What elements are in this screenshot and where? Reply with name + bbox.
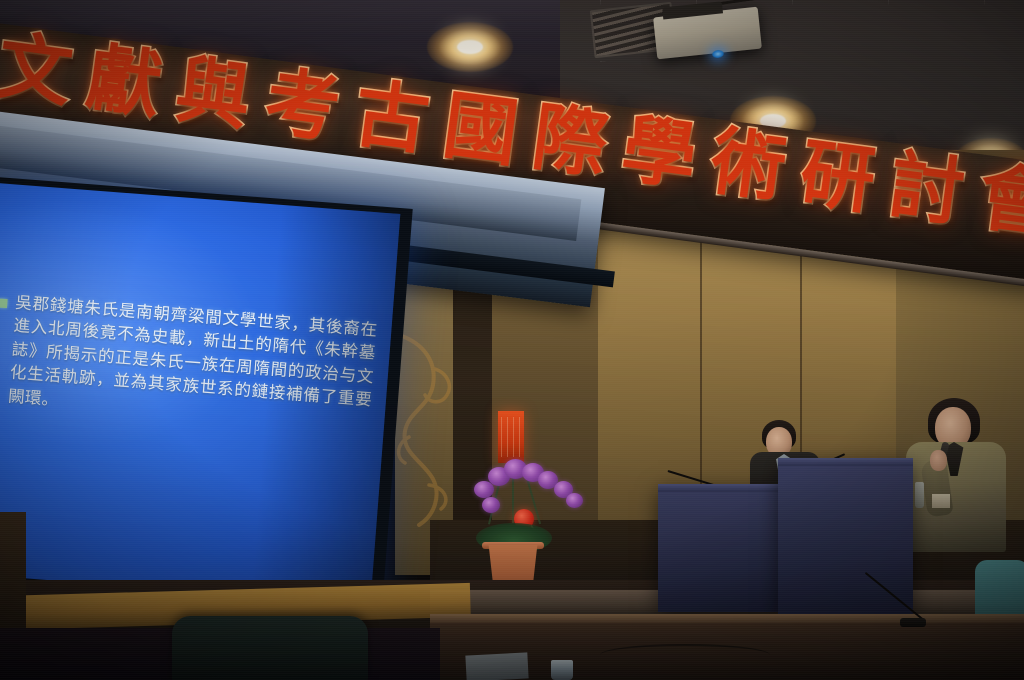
standing-speaker	[908, 398, 1004, 548]
conference-hall-photo: 、文獻與考古國際學術研討會 吳郡錢塘朱氏是南朝齊梁間文學世家，其後裔在進入北周後…	[0, 0, 1024, 680]
foreground-document	[465, 652, 528, 680]
projection-screen-frame: 吳郡錢塘朱氏是南朝齊梁間文學世家，其後裔在進入北周後竟不為史載，新出土的隋代《朱…	[0, 176, 413, 620]
podium-left-top	[658, 484, 780, 492]
podium-right-top	[778, 458, 913, 466]
microphone-base	[900, 618, 926, 627]
congratulatory-card	[498, 411, 524, 463]
name-badge	[932, 494, 950, 508]
left-side-panel	[0, 512, 26, 632]
foreground-cable	[600, 644, 770, 666]
water-bottle	[915, 482, 924, 508]
bullet-square-icon	[0, 298, 8, 308]
standing-speaker-hand	[930, 450, 947, 471]
projection-screen: 吳郡錢塘朱氏是南朝齊梁間文學世家，其後裔在進入北周後竟不為史載，新出土的隋代《朱…	[0, 182, 400, 605]
foreground-cup	[551, 660, 573, 680]
card-text-lines	[501, 417, 521, 457]
orchid-bloom-8	[566, 493, 583, 508]
foreground-chair	[172, 616, 368, 680]
dragon-motif-icon	[395, 315, 453, 535]
podium-left	[658, 484, 780, 612]
orchid-bloom-7	[482, 497, 500, 513]
ceiling-downlight-1	[427, 22, 513, 72]
